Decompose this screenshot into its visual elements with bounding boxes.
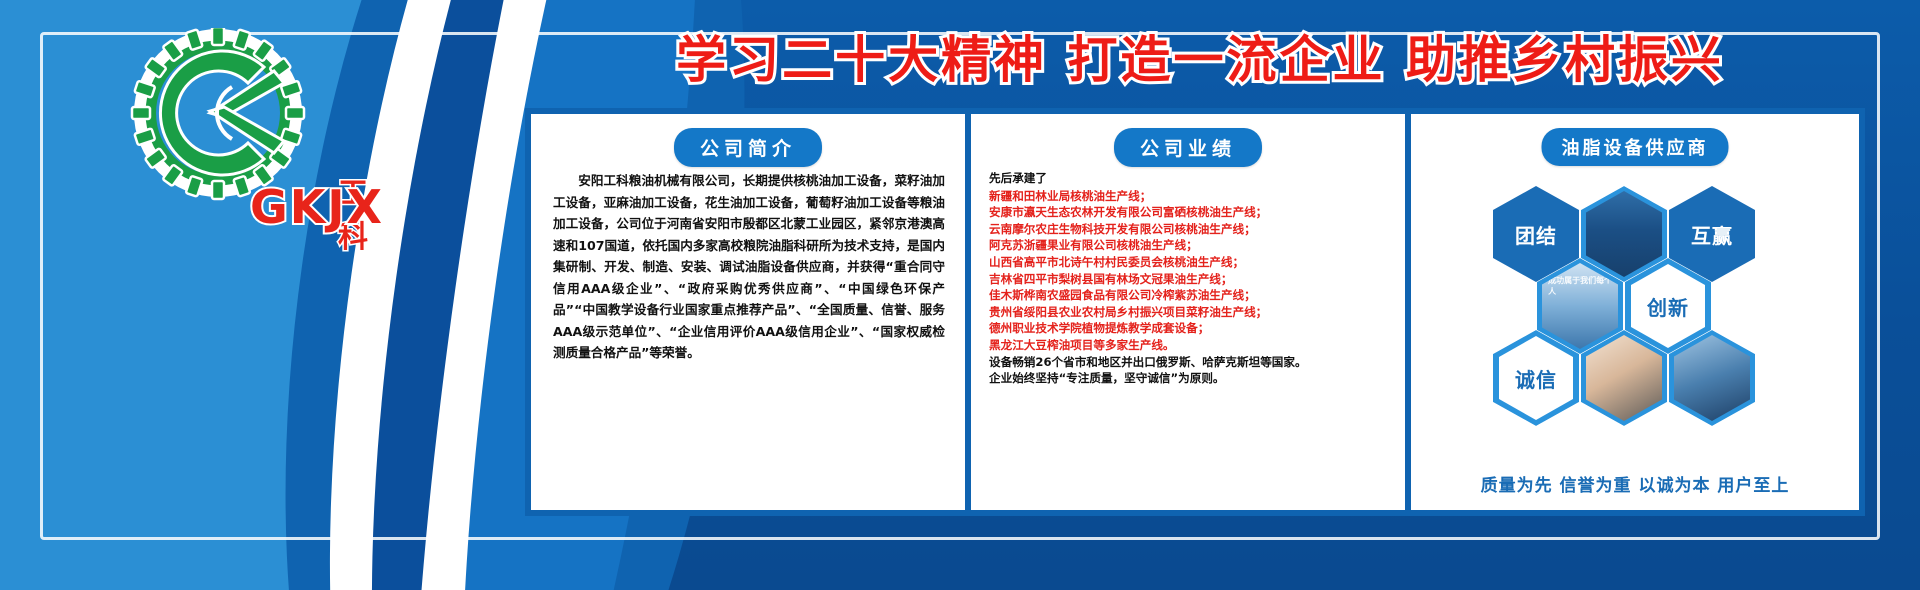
panel-company-performance: 公司业绩 先后承建了 新疆和田林业局核桃油生产线； 安康市瀛天生态农林开发有限公… [971, 114, 1405, 510]
hex-photo-ship-image [1586, 191, 1662, 277]
performance-item: 阿克苏浙疆果业有限公司核桃油生产线； [989, 237, 1391, 254]
company-logo: 工科 GKJX [110, 28, 340, 218]
performance-item: 云南摩尔农庄生物科技开发有限公司核桃油生产线； [989, 221, 1391, 238]
hex-unity-label: 团结 [1515, 220, 1557, 249]
panel-company-profile: 公司简介 安阳工科粮油机械有限公司，长期提供核桃油加工设备，菜籽油加工设备，亚麻… [531, 114, 965, 510]
performance-lead: 先后承建了 [989, 170, 1391, 187]
performance-item: 安康市瀛天生态农林开发有限公司富硒核桃油生产线； [989, 204, 1391, 221]
hexagon-grid: 团结 互赢 成功属于我们每个人 创新 [1411, 168, 1859, 418]
logo-en-name: GKJX [250, 180, 384, 234]
hex-integrity-label: 诚信 [1515, 364, 1557, 393]
performance-item: 贵州省绥阳县农业农村局乡村振兴项目菜籽油生产线； [989, 304, 1391, 321]
poster-canvas: 工科 GKJX 学习二十大精神 打造一流企业 助推乡村振兴 公司简介 安阳工科粮… [0, 0, 1920, 590]
hex-photo-handshake-image [1586, 335, 1662, 421]
panel-supplier: 油脂设备供应商 团结 互赢 成功属于我们每个人 [1411, 114, 1859, 510]
hex-photo-ship2-image: 成功属于我们每个人 [1542, 263, 1618, 349]
performance-item: 佳木斯桦南农盛园食品有限公司冷榨紫苏油生产线； [989, 287, 1391, 304]
poster-headline: 学习二十大精神 打造一流企业 助推乡村振兴 [520, 20, 1880, 92]
company-performance-body: 先后承建了 新疆和田林业局核桃油生产线； 安康市瀛天生态农林开发有限公司富硒核桃… [989, 170, 1391, 387]
panel-title-company-profile: 公司简介 [674, 128, 822, 167]
company-profile-body: 安阳工科粮油机械有限公司，长期提供核桃油加工设备，菜籽油加工设备，亚麻油加工设备… [553, 170, 945, 364]
panel-title-supplier: 油脂设备供应商 [1542, 128, 1729, 166]
panel-title-company-performance: 公司业绩 [1114, 128, 1262, 167]
hex-photo-building-image [1674, 335, 1750, 421]
performance-item: 吉林省四平市梨树县国有林场文冠果油生产线； [989, 271, 1391, 288]
performance-item: 德州职业技术学院植物提炼教学成套设备； [989, 320, 1391, 337]
performance-item: 新疆和田林业局核桃油生产线； [989, 188, 1391, 205]
performance-item: 山西省高平市北诗午村村民委员会核桃油生产线； [989, 254, 1391, 271]
supplier-slogan: 质量为先 信誉为重 以诚为本 用户至上 [1411, 471, 1859, 496]
hex-win-win-label: 互赢 [1691, 220, 1733, 249]
performance-tail: 设备畅销26个省市和地区并出口俄罗斯、哈萨克斯坦等国家。 [989, 354, 1391, 371]
hex-innovation-label: 创新 [1647, 292, 1689, 321]
hex-photo-caption: 成功属于我们每个人 [1548, 275, 1618, 297]
performance-tail: 企业始终坚持“专注质量，坚守诚信”为原则。 [989, 370, 1391, 387]
performance-item: 黑龙江大豆榨油项目等多家生产线。 [989, 337, 1391, 354]
panels-container: 公司简介 安阳工科粮油机械有限公司，长期提供核桃油加工设备，菜籽油加工设备，亚麻… [525, 108, 1865, 516]
